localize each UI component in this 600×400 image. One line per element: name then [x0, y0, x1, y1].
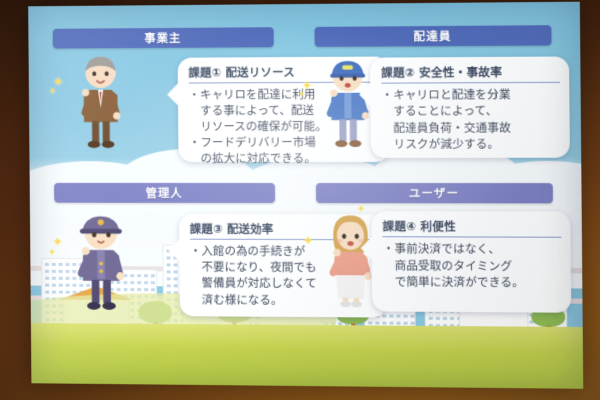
- character-security-guard: ✦ ✦: [60, 208, 142, 314]
- sparkle-icon: ✦: [303, 234, 314, 249]
- presentation-slide: 事業主 ✦ ✦: [28, 2, 583, 389]
- quadrant-header-label: 事業主: [144, 30, 181, 46]
- sparkle-icon: ✦: [49, 87, 56, 97]
- quadrant-header-label: 管理人: [146, 185, 183, 201]
- speech-bubble-end-user: 課題④ 利便性 ・事前決済ではなく、 商品受取のタイミング で簡単に決済ができる…: [371, 212, 571, 313]
- quadrant-header-delivery-staff: 配達員: [314, 26, 552, 48]
- issue-body: ・事前決済ではなく、 商品受取のタイミング で簡単に決済ができる。: [383, 242, 562, 291]
- issue-body-line: 配達員負荷・交通事故: [382, 120, 561, 136]
- quadrant-header-end-user: ユーザー: [316, 183, 554, 203]
- issue-body-line: ・事前決済ではなく、: [383, 242, 562, 258]
- issue-title: 課題④ 利便性: [382, 219, 561, 239]
- ground-band: [31, 323, 583, 389]
- screenshot-stage: 事業主 ✦ ✦: [0, 0, 600, 400]
- issue-body: ・キャリロと配達を分業 することによって、 配達員負荷・交通事故 リスクが減少す…: [381, 87, 560, 152]
- issue-body-line: で簡単に決済ができる。: [383, 274, 562, 290]
- issue-body-line: することによって、: [381, 104, 560, 120]
- issue-body-line: の拡大に対応できる。: [189, 151, 381, 166]
- quadrant-header-business-owner: 事業主: [53, 28, 274, 49]
- sparkle-icon: ✦: [48, 248, 55, 258]
- quadrant-header-building-manager: 管理人: [54, 183, 275, 203]
- issue-body-line: リスクが減少する。: [382, 136, 561, 152]
- quadrant-header-label: ユーザー: [409, 185, 460, 201]
- projected-slide-wrapper: 事業主 ✦ ✦: [28, 2, 583, 389]
- quadrant-header-label: 配達員: [413, 28, 451, 44]
- issue-title: 課題② 安全性・事故率: [381, 64, 560, 84]
- character-elderly-businessman: ✦ ✦: [60, 53, 142, 152]
- sparkle-icon: ✦: [298, 90, 306, 100]
- issue-body-line: 商品受取のタイミング: [383, 258, 562, 274]
- speech-bubble-delivery-staff: 課題② 安全性・事故率 ・キャリロと配達を分業 することによって、 配達員負荷・…: [370, 57, 570, 158]
- sparkle-icon: ✦: [357, 204, 366, 215]
- issue-body-line: ・キャリロと配達を分業: [381, 87, 560, 103]
